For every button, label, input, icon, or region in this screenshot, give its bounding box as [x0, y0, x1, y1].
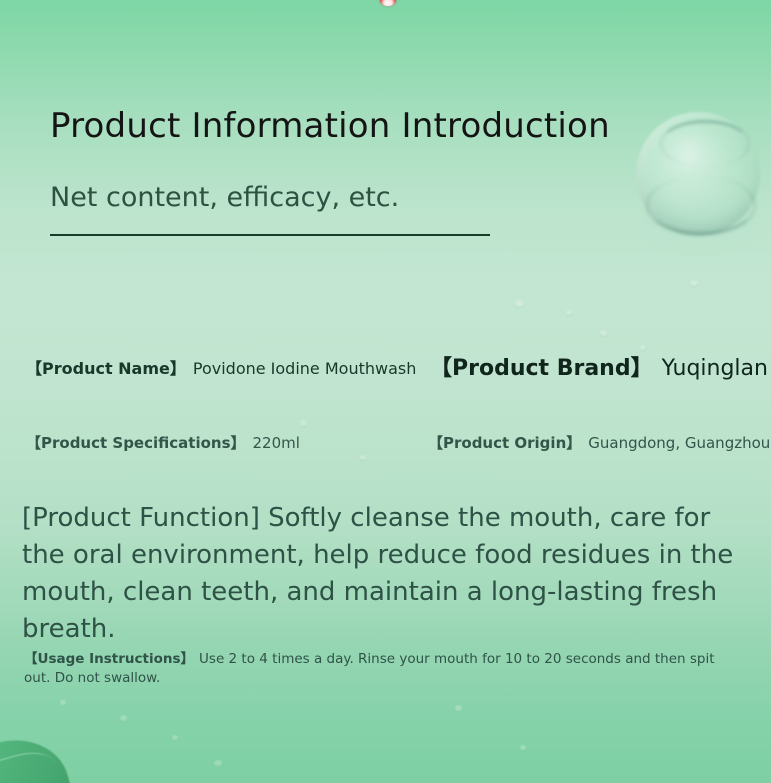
spec-row-product-specifications: 【Product Specifications】220ml	[26, 432, 300, 453]
spec-label-product-specifications: 【Product Specifications】	[26, 434, 246, 452]
spec-value-product-brand: Yuqinglan	[653, 356, 768, 381]
spec-value-product-origin: Guangdong, Guangzhou	[581, 434, 770, 452]
spec-label-product-origin: 【Product Origin】	[428, 434, 581, 452]
spec-label-product-brand: 【Product Brand】	[430, 356, 653, 381]
product-info-page: Product Information Introduction Net con…	[0, 0, 771, 783]
water-speck	[172, 735, 178, 740]
spec-row-product-name: 【Product Name】Povidone Iodine Mouthwash	[26, 355, 416, 379]
water-speck	[515, 300, 524, 307]
page-subtitle: Net content, efficacy, etc.	[50, 180, 399, 216]
spec-value-product-name: Povidone Iodine Mouthwash	[186, 359, 417, 378]
water-speck	[566, 310, 572, 315]
water-speck	[360, 455, 366, 460]
water-speck	[120, 715, 127, 721]
water-speck	[455, 705, 462, 711]
water-speck	[690, 280, 698, 286]
droplet-rim-bottom	[646, 176, 756, 235]
water-speck	[60, 700, 66, 705]
usage-instructions-label: 【Usage Instructions】	[24, 651, 194, 667]
water-speck	[520, 745, 526, 750]
spec-row-product-origin: 【Product Origin】Guangdong, Guangzhou	[428, 432, 770, 453]
water-speck	[214, 760, 222, 766]
header-divider	[50, 234, 490, 236]
spec-row-product-brand: 【Product Brand】Yuqinglan	[430, 350, 768, 382]
product-function-paragraph: [Product Function] Softly cleanse the mo…	[22, 500, 748, 648]
page-title: Product Information Introduction	[50, 104, 610, 148]
spec-value-product-specifications: 220ml	[246, 434, 300, 452]
droplet-rim-top	[660, 120, 750, 167]
red-circle-fragment-icon	[380, 0, 396, 6]
water-speck	[600, 330, 607, 336]
spec-label-product-name: 【Product Name】	[26, 359, 186, 378]
water-speck	[300, 420, 307, 426]
usage-instructions-paragraph: 【Usage Instructions】Use 2 to 4 times a d…	[24, 650, 724, 688]
